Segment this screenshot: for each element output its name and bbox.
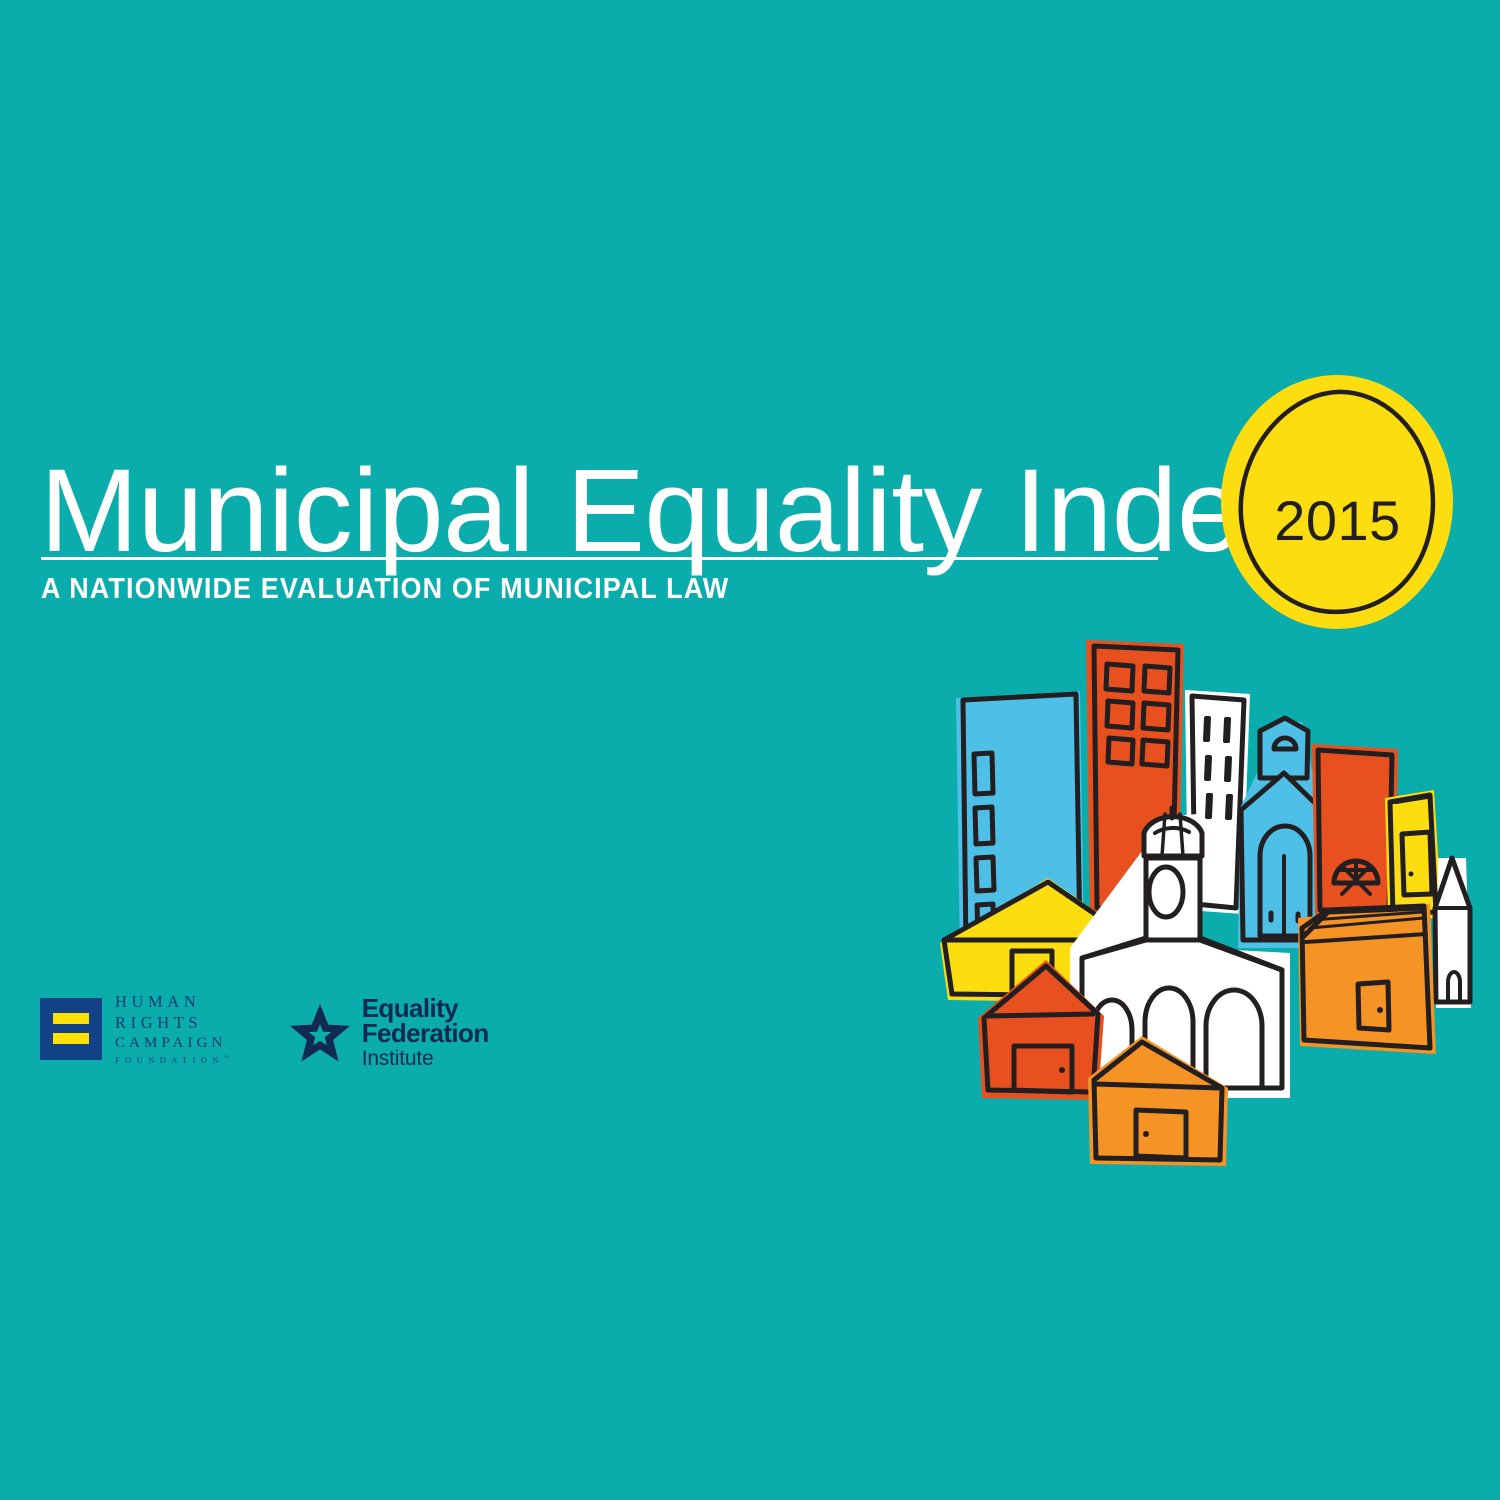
hrc-line-foundation: FOUNDATION™ (115, 1056, 229, 1065)
poster-canvas: Municipal Equality Index A NATIONWIDE EV… (0, 0, 1500, 1500)
page-title: Municipal Equality Index (40, 452, 1170, 570)
year-badge: 2015 (1221, 375, 1454, 629)
hrc-trademark-symbol: ™ (224, 1056, 229, 1061)
hrc-foundation-logo: HUMAN RIGHTS CAMPAIGN FOUNDATION™ (40, 993, 229, 1064)
star-icon (289, 1003, 351, 1063)
hrc-line-human: HUMAN (115, 994, 229, 1011)
page-subtitle: A NATIONWIDE EVALUATION OF MUNICIPAL LAW (41, 573, 1091, 606)
building-yellow-tower (1385, 790, 1442, 920)
building-red-tower (1312, 744, 1398, 916)
building-blue-church-steeple (1238, 718, 1322, 948)
hrc-foundation-text: FOUNDATION (115, 1055, 224, 1065)
equality-federation-wordmark: Equality Federation Institute (362, 996, 489, 1070)
building-white-steeple-house (1435, 858, 1471, 1008)
ef-line-federation: Federation (362, 1021, 489, 1046)
hrc-equals-bar-top (53, 1013, 89, 1024)
hrc-equals-mark-icon (40, 998, 102, 1060)
hrc-equals-bar-bottom (53, 1033, 89, 1044)
hrc-line-rights: RIGHTS (115, 1015, 229, 1032)
cityscape-illustration (930, 618, 1490, 1188)
logo-row: HUMAN RIGHTS CAMPAIGN FOUNDATION™ Equali… (40, 993, 489, 1070)
hrc-line-campaign: CAMPAIGN (115, 1036, 229, 1051)
year-label: 2015 (1221, 375, 1454, 629)
hrc-wordmark: HUMAN RIGHTS CAMPAIGN FOUNDATION™ (115, 993, 229, 1064)
equality-federation-logo: Equality Federation Institute (289, 993, 489, 1070)
building-orange-barn (1298, 904, 1436, 1054)
title-block: Municipal Equality Index A NATIONWIDE EV… (40, 452, 1170, 606)
ef-line-institute: Institute (362, 1049, 489, 1069)
